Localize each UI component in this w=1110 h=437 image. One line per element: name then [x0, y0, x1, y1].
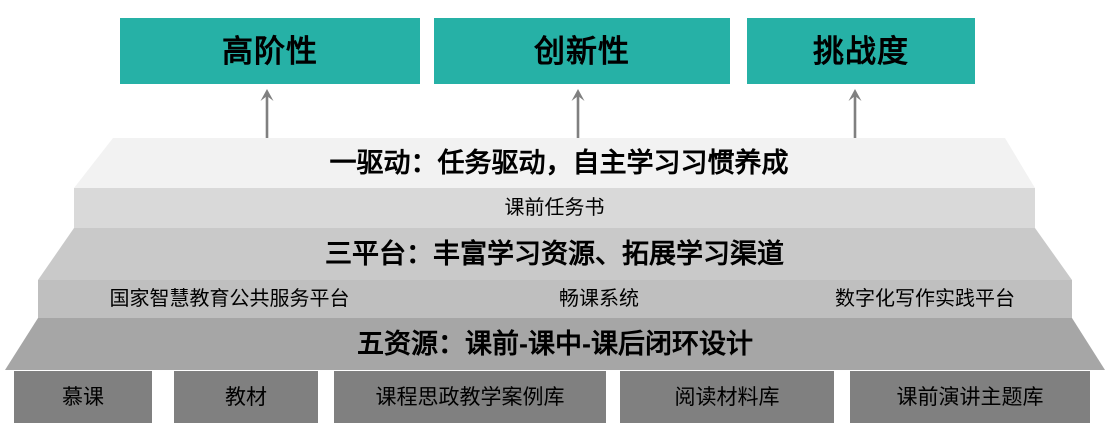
tier-three-platforms-item-2[interactable]: 畅课系统 [456, 280, 742, 318]
outcome-box-3[interactable]: 挑战度 [747, 18, 975, 84]
outcome-box-2[interactable]: 创新性 [434, 18, 730, 84]
tier-five-resources-item-4[interactable]: 阅读材料库 [620, 371, 834, 423]
tier-one-drive-item-1[interactable]: 课前任务书 [74, 188, 1035, 228]
arrow-to-high-order-icon [257, 88, 277, 140]
pyramid-diagram: 高阶性创新性挑战度 一驱动：任务驱动，自主学习习惯养成课前任务书三平台：丰富学习… [0, 0, 1110, 437]
tier-three-platforms-item-3[interactable]: 数字化写作实践平台 [778, 280, 1072, 318]
arrow-to-innovation-icon [568, 88, 588, 140]
tier-five-resources-item-5[interactable]: 课前演讲主题库 [850, 371, 1090, 423]
tier-one-drive-label: 一驱动：任务驱动，自主学习习惯养成 [4, 150, 1110, 177]
tier-three-platforms-label: 三平台：丰富学习资源、拓展学习渠道 [0, 241, 1110, 268]
tier-five-resources-item-3[interactable]: 课程思政教学案例库 [334, 371, 606, 423]
arrow-to-challenge-icon [845, 88, 865, 140]
outcome-box-1[interactable]: 高阶性 [120, 18, 420, 84]
tier-three-platforms-item-1[interactable]: 国家智慧教育公共服务平台 [38, 280, 421, 318]
tier-five-resources-label: 五资源：课前-课中-课后闭环设计 [0, 331, 1110, 358]
tier-five-resources-item-2[interactable]: 教材 [174, 371, 318, 423]
tier-five-resources-item-1[interactable]: 慕课 [14, 371, 152, 423]
